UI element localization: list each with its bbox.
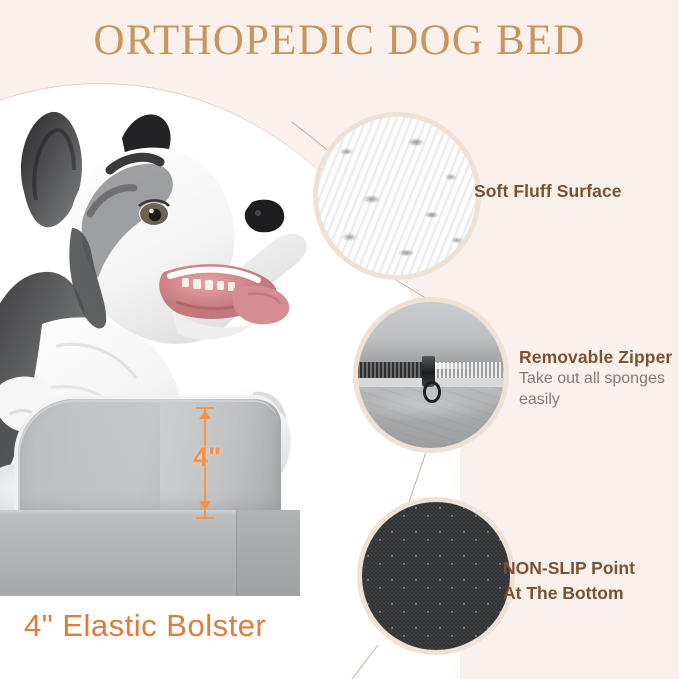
feature-subtitle: Take out all sponges easily	[519, 369, 679, 411]
feature-swatch-soft-fluff-surface	[313, 112, 481, 280]
feature-title-line2: At The Bottom	[503, 581, 635, 606]
bolster-height-measurement: 4"	[188, 404, 222, 522]
page-title: ORTHOPEDIC DOG BED	[0, 16, 679, 65]
zipper-photo	[358, 302, 504, 448]
feature-title-line1: NON-SLIP Point	[503, 556, 635, 581]
product-caption: 4" Elastic Bolster	[24, 608, 266, 644]
measurement-value: 4"	[184, 442, 230, 473]
zipper-specular-highlight	[434, 363, 472, 369]
dog-bed-illustration	[0, 398, 314, 598]
feature-label-soft-fluff-surface: Soft Fluff Surface	[474, 180, 622, 203]
bed-base-side-panel	[237, 510, 300, 596]
zipper-pull-ring	[423, 381, 441, 403]
bolster-piping-inner	[18, 400, 278, 512]
anti-slip-dot-texture	[362, 502, 510, 650]
feature-title: Soft Fluff Surface	[474, 180, 622, 203]
feature-label-non-slip-point: NON-SLIP Point At The Bottom	[503, 556, 635, 605]
plush-fur-texture	[318, 117, 476, 275]
feature-swatch-non-slip-point	[357, 497, 515, 655]
feature-title: Removable Zipper	[519, 346, 679, 369]
bed-base-seam	[236, 510, 237, 596]
measurement-arrow-up-icon	[199, 410, 211, 419]
infographic-canvas: ORTHOPEDIC DOG BED	[0, 0, 679, 679]
feature-swatch-removable-zipper	[353, 297, 509, 453]
zipper-upper-fabric	[358, 302, 504, 363]
measurement-arrow-down-icon	[199, 501, 211, 510]
feature-label-removable-zipper: Removable Zipper Take out all sponges ea…	[519, 346, 679, 411]
